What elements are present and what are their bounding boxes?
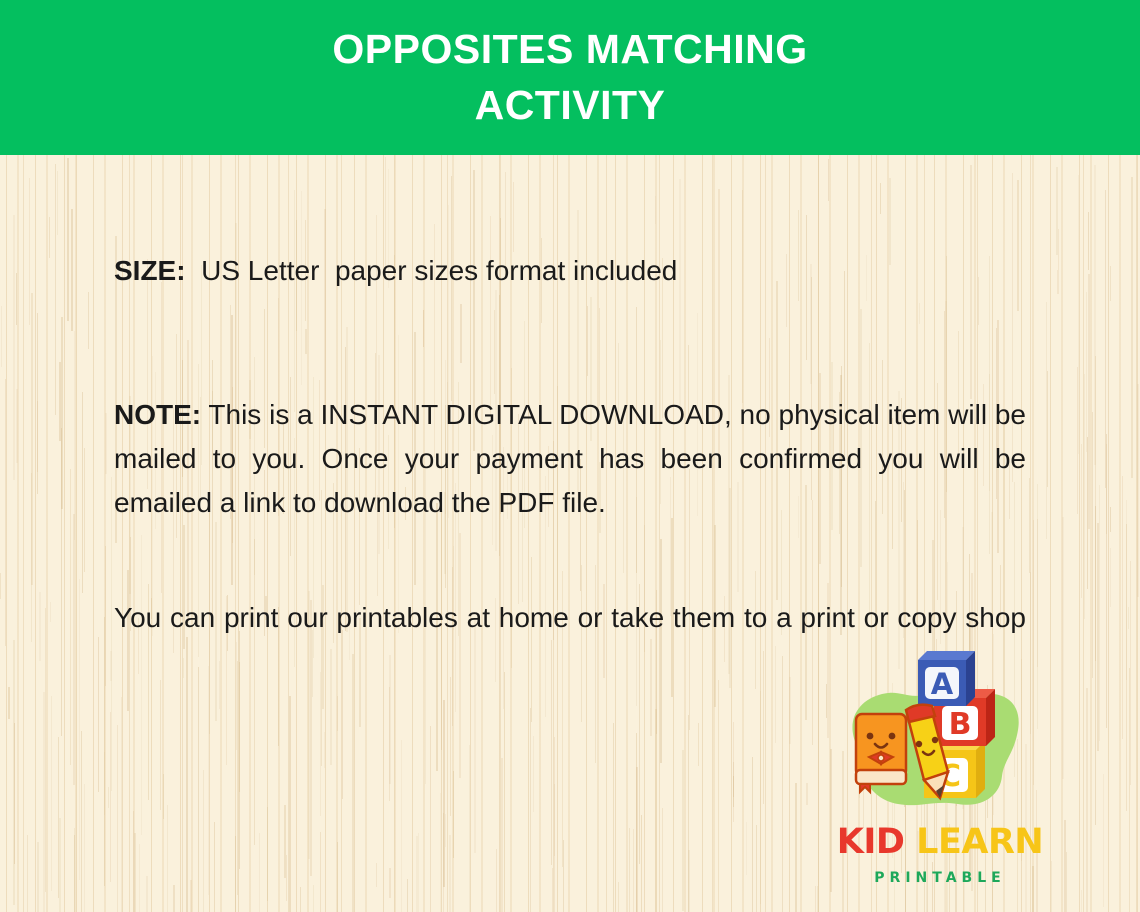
page-title-line-1: OPPOSITES MATCHING xyxy=(332,22,807,78)
brand-word-kid: KID xyxy=(837,822,905,862)
logo-illustration: C B A xyxy=(836,648,1044,820)
size-value: US Letter paper sizes format included xyxy=(186,255,678,286)
block-a-letter: A xyxy=(931,667,954,701)
page-header-band: OPPOSITES MATCHING ACTIVITY xyxy=(0,0,1140,155)
book-character xyxy=(856,714,906,792)
brand-word-learn: LEARN xyxy=(916,822,1043,862)
brand-tagline: PRINTABLE xyxy=(836,870,1044,886)
size-label: SIZE: xyxy=(114,255,186,286)
note-label: NOTE: xyxy=(114,399,201,430)
note-text: This is a INSTANT DIGITAL DOWNLOAD, no p… xyxy=(114,399,1026,518)
brand-word-space xyxy=(904,822,916,862)
page-title-line-2: ACTIVITY xyxy=(475,78,666,134)
brand-logo: C B A xyxy=(836,648,1044,898)
size-line: SIZE: US Letter paper sizes format inclu… xyxy=(114,190,1026,290)
block-b-letter: B xyxy=(949,707,972,742)
block-a: A xyxy=(918,651,975,706)
brand-wordmark: KID LEARN xyxy=(836,822,1044,862)
note-paragraph: NOTE: This is a INSTANT DIGITAL DOWNLOAD… xyxy=(114,290,1026,526)
body-content: SIZE: US Letter paper sizes format inclu… xyxy=(114,190,1026,684)
printable-listing-page: OPPOSITES MATCHING ACTIVITY SIZE: US Let… xyxy=(0,0,1140,912)
